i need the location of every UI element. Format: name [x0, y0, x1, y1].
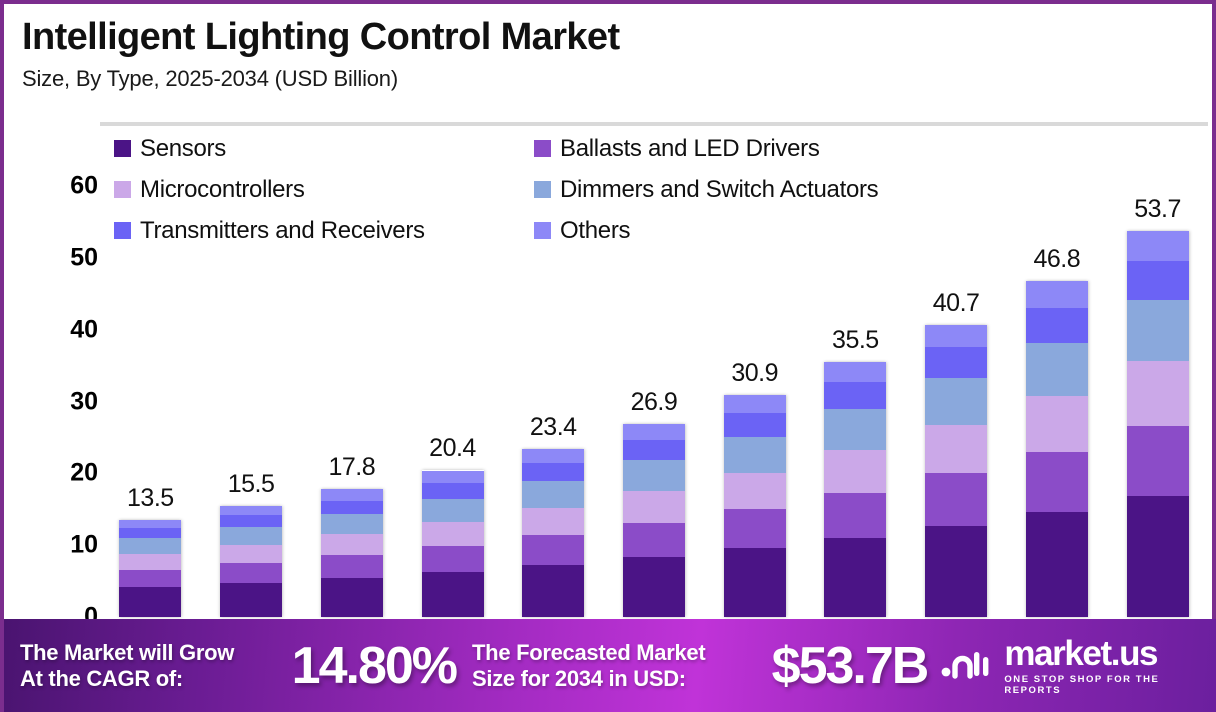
bar-segment[interactable] [422, 499, 484, 522]
bar-total-label: 46.8 [987, 245, 1127, 274]
bar-total-label: 23.4 [483, 413, 623, 442]
bar-group[interactable]: 20.4 [408, 186, 498, 617]
plot-area: 0102030405060 SensorsBallasts and LED Dr… [4, 122, 1216, 617]
bar-stack[interactable] [925, 325, 987, 617]
bar-stack[interactable] [1127, 231, 1189, 617]
bar-segment[interactable] [824, 409, 886, 450]
market-us-logo-icon [941, 646, 995, 685]
bar-segment[interactable] [119, 528, 181, 538]
bar-total-label: 26.9 [584, 388, 724, 417]
legend-label: Ballasts and LED Drivers [560, 135, 820, 163]
y-axis-tick: 30 [38, 387, 98, 416]
y-axis-tick: 60 [38, 172, 98, 201]
bar-segment[interactable] [623, 440, 685, 461]
bar-group[interactable]: 13.5 [105, 186, 195, 617]
bar-segment[interactable] [724, 395, 786, 413]
bar-stack[interactable] [220, 506, 282, 617]
bar-segment[interactable] [119, 587, 181, 617]
y-axis-tick: 50 [38, 243, 98, 272]
bar-stack[interactable] [422, 470, 484, 617]
bar-segment[interactable] [925, 347, 987, 378]
bar-segment[interactable] [925, 325, 987, 347]
bar-segment[interactable] [321, 534, 383, 555]
bar-segment[interactable] [1127, 300, 1189, 361]
bar-stack[interactable] [623, 424, 685, 617]
bar-total-label: 53.7 [1088, 195, 1216, 224]
bar-segment[interactable] [220, 527, 282, 545]
legend-swatch-icon [534, 140, 551, 157]
bar-segment[interactable] [422, 483, 484, 499]
bar-segment[interactable] [220, 545, 282, 563]
bar-segment[interactable] [119, 570, 181, 587]
bar-segment[interactable] [1127, 426, 1189, 496]
bar-group[interactable]: 15.5 [206, 186, 296, 617]
bar-series-container: 13.515.517.820.423.426.930.935.540.746.8… [100, 186, 1208, 617]
brand-tagline: ONE STOP SHOP FOR THE REPORTS [1004, 674, 1216, 696]
bar-stack[interactable] [1026, 281, 1088, 617]
bar-segment[interactable] [724, 473, 786, 510]
bar-segment[interactable] [321, 578, 383, 618]
bar-segment[interactable] [724, 437, 786, 473]
cagr-caption: The Market will Grow At the CAGR of: [20, 640, 292, 692]
bar-segment[interactable] [522, 565, 584, 617]
bar-stack[interactable] [321, 489, 383, 617]
bar-segment[interactable] [1127, 231, 1189, 261]
x-axis-line [100, 122, 1208, 126]
bar-segment[interactable] [1026, 281, 1088, 308]
bar-segment[interactable] [119, 538, 181, 554]
legend-item[interactable]: Ballasts and LED Drivers [534, 135, 1114, 163]
bar-total-label: 40.7 [886, 289, 1026, 318]
bar-segment[interactable] [824, 450, 886, 492]
bar-segment[interactable] [422, 522, 484, 546]
bar-group[interactable]: 35.5 [810, 186, 900, 617]
bar-segment[interactable] [422, 546, 484, 572]
bar-group[interactable]: 26.9 [609, 186, 699, 617]
bar-segment[interactable] [1127, 361, 1189, 426]
bar-segment[interactable] [925, 378, 987, 425]
bar-group[interactable]: 53.7 [1113, 186, 1203, 617]
page-subtitle: Size, By Type, 2025-2034 (USD Billion) [22, 66, 1212, 92]
bar-segment[interactable] [724, 548, 786, 617]
bar-segment[interactable] [119, 520, 181, 528]
bar-segment[interactable] [220, 506, 282, 515]
bar-segment[interactable] [119, 554, 181, 570]
bar-group[interactable]: 46.8 [1012, 186, 1102, 617]
bar-segment[interactable] [724, 413, 786, 437]
bar-segment[interactable] [1026, 512, 1088, 617]
bar-segment[interactable] [422, 471, 484, 484]
header: Intelligent Lighting Control Market Size… [4, 4, 1212, 92]
bar-segment[interactable] [623, 491, 685, 523]
bar-segment[interactable] [623, 523, 685, 557]
bar-segment[interactable] [724, 509, 786, 548]
bar-stack[interactable] [724, 395, 786, 617]
bar-total-label: 30.9 [685, 359, 825, 388]
bar-segment[interactable] [220, 563, 282, 582]
cagr-value: 14.80% [292, 636, 456, 696]
bar-segment[interactable] [1026, 343, 1088, 396]
bar-segment[interactable] [1026, 308, 1088, 342]
bar-segment[interactable] [321, 514, 383, 534]
bar-segment[interactable] [623, 424, 685, 440]
bar-segment[interactable] [1026, 452, 1088, 512]
brand-name: market.us [1004, 636, 1216, 671]
bar-segment[interactable] [220, 515, 282, 527]
bar-segment[interactable] [522, 449, 584, 463]
bar-segment[interactable] [522, 481, 584, 508]
bar-segment[interactable] [623, 557, 685, 617]
bar-segment[interactable] [321, 555, 383, 577]
footer-banner: The Market will Grow At the CAGR of: 14.… [4, 619, 1216, 712]
bar-segment[interactable] [824, 493, 886, 538]
bar-segment[interactable] [422, 572, 484, 617]
bar-segment[interactable] [925, 473, 987, 525]
bar-segment[interactable] [824, 538, 886, 617]
legend-item[interactable]: Sensors [114, 135, 534, 163]
bar-segment[interactable] [1026, 396, 1088, 452]
y-axis-tick: 40 [38, 315, 98, 344]
bar-segment[interactable] [522, 508, 584, 535]
bar-group[interactable]: 17.8 [307, 186, 397, 617]
bar-segment[interactable] [824, 382, 886, 409]
bar-total-label: 35.5 [785, 326, 925, 355]
bar-segment[interactable] [321, 501, 383, 515]
bar-segment[interactable] [321, 489, 383, 500]
bar-segment[interactable] [1127, 261, 1189, 300]
infographic-container: Intelligent Lighting Control Market Size… [0, 0, 1216, 712]
bar-segment[interactable] [925, 526, 987, 617]
forecast-size-caption: The Forecasted Market Size for 2034 in U… [472, 640, 772, 692]
brand-logo[interactable]: market.us ONE STOP SHOP FOR THE REPORTS [941, 636, 1216, 696]
bar-stack[interactable] [522, 449, 584, 617]
bar-segment[interactable] [522, 535, 584, 564]
bar-segment[interactable] [824, 362, 886, 382]
brand-text: market.us ONE STOP SHOP FOR THE REPORTS [1004, 636, 1216, 696]
bar-group[interactable]: 30.9 [710, 186, 800, 617]
page-title: Intelligent Lighting Control Market [22, 18, 1212, 58]
bar-segment[interactable] [623, 460, 685, 491]
bar-stack[interactable] [119, 520, 181, 617]
legend-label: Sensors [140, 135, 226, 163]
legend-swatch-icon [114, 140, 131, 157]
bar-segment[interactable] [1127, 496, 1189, 617]
forecast-size-value: $53.7B [772, 636, 928, 696]
bar-stack[interactable] [824, 362, 886, 617]
bar-segment[interactable] [220, 583, 282, 617]
bar-segment[interactable] [522, 463, 584, 481]
bar-segment[interactable] [925, 425, 987, 474]
y-axis-tick: 10 [38, 531, 98, 560]
